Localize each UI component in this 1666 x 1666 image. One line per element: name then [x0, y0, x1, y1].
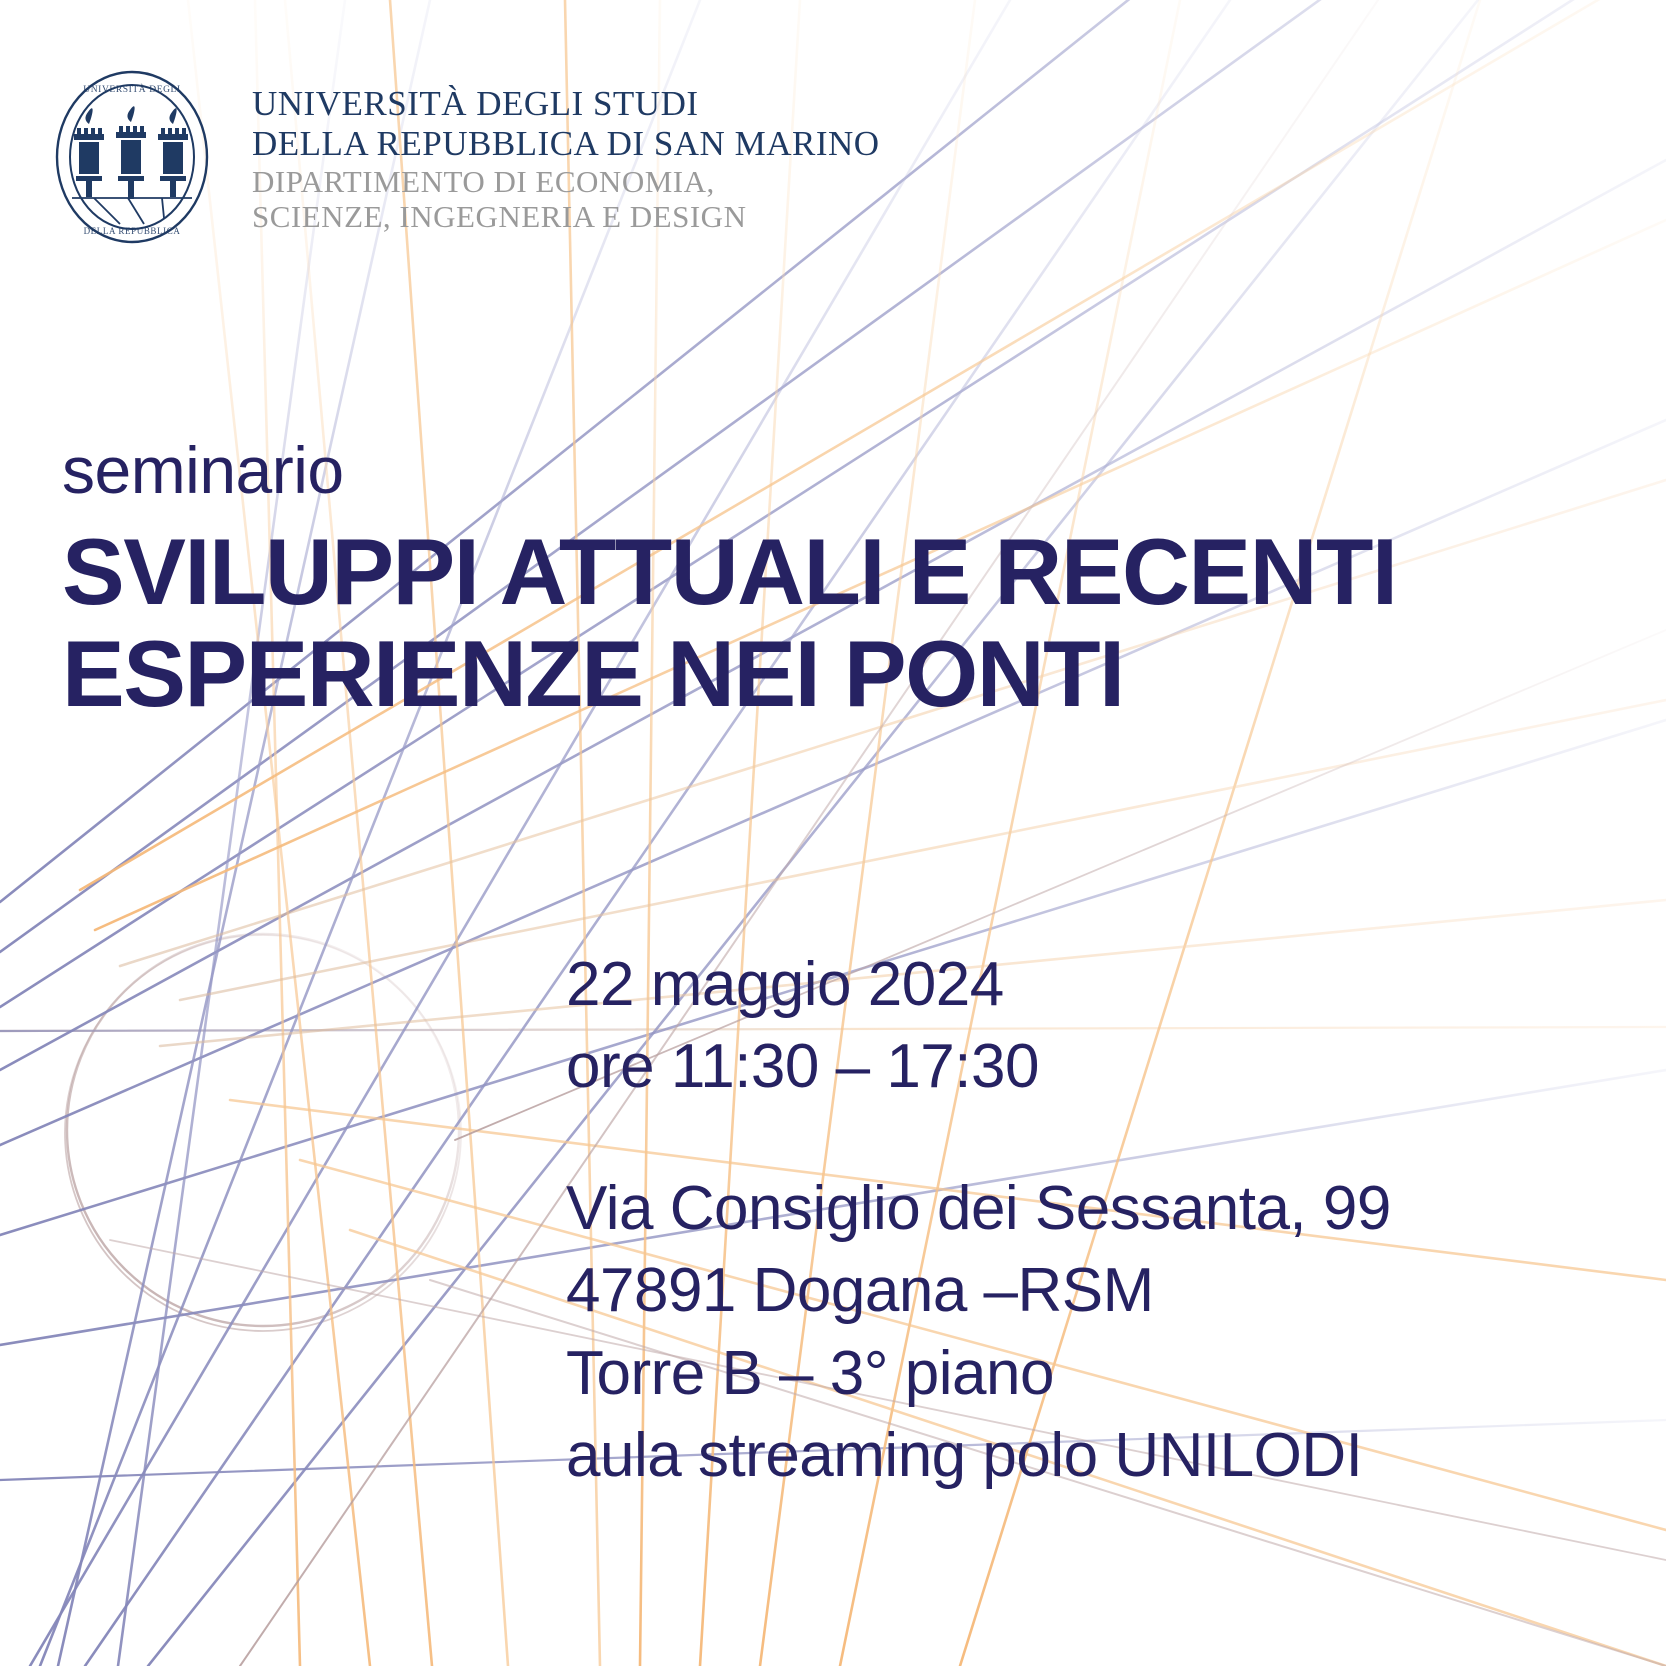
event-time: ore 11:30 – 17:30	[566, 1026, 1039, 1108]
poster-canvas: UNIVERSITÀ DEGLI DELLA REPUBBLICA	[0, 0, 1666, 1666]
svg-text:DELLA REPUBBLICA: DELLA REPUBBLICA	[84, 226, 181, 236]
venue-city: 47891 Dogana –RSM	[566, 1250, 1391, 1332]
event-title-line-1: SVILUPPI ATTUALI E RECENTI	[62, 521, 1397, 623]
event-kicker: seminario	[62, 437, 344, 503]
event-datetime-block: 22 maggio 2024 ore 11:30 – 17:30	[566, 944, 1039, 1108]
institutional-header: UNIVERSITÀ DEGLI DELLA REPUBBLICA	[52, 68, 880, 246]
venue-street: Via Consiglio dei Sessanta, 99	[566, 1168, 1391, 1250]
university-seal-icon: UNIVERSITÀ DEGLI DELLA REPUBBLICA	[52, 68, 212, 246]
department-line-2: SCIENZE, INGEGNERIA E DESIGN	[252, 199, 880, 234]
event-venue-block: Via Consiglio dei Sessanta, 99 47891 Dog…	[566, 1168, 1391, 1498]
department-line-1: DIPARTIMENTO DI ECONOMIA,	[252, 164, 880, 199]
event-date: 22 maggio 2024	[566, 944, 1039, 1026]
venue-room: aula streaming polo UNILODI	[566, 1415, 1391, 1497]
institution-line-1: UNIVERSITÀ DEGLI STUDI	[252, 84, 880, 124]
institution-name-block: UNIVERSITÀ DEGLI STUDI DELLA REPUBBLICA …	[252, 68, 880, 234]
event-title-line-2: ESPERIENZE NEI PONTI	[62, 623, 1397, 725]
venue-floor: Torre B – 3° piano	[566, 1333, 1391, 1415]
institution-line-2: DELLA REPUBBLICA DI SAN MARINO	[252, 124, 880, 164]
event-title: SVILUPPI ATTUALI E RECENTI ESPERIENZE NE…	[62, 521, 1397, 724]
svg-text:UNIVERSITÀ DEGLI: UNIVERSITÀ DEGLI	[83, 83, 180, 95]
